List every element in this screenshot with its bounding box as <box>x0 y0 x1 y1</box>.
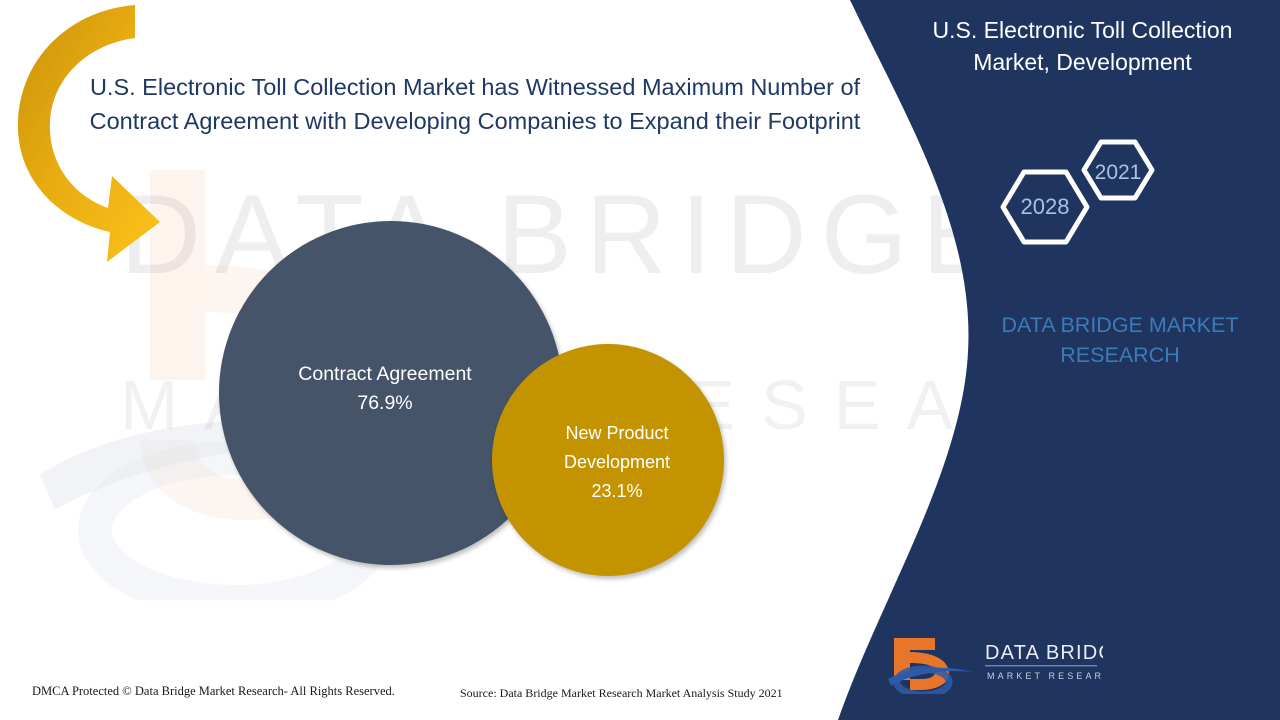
data-bridge-logo: DATA BRIDGE MARKET RESEARCH <box>888 632 1103 694</box>
hexagon-2028-label: 2028 <box>1021 194 1070 219</box>
logo-tagline-text: MARKET RESEARCH <box>987 671 1103 681</box>
slice-value-text: 76.9% <box>298 389 471 418</box>
copyright-notice: DMCA Protected © Data Bridge Market Rese… <box>32 684 395 699</box>
slice-label-text-2: Development <box>564 448 670 477</box>
brand-name-line2: RESEARCH <box>975 340 1265 370</box>
year-hexagons: 2028 2021 <box>980 130 1190 290</box>
infographic-slide: DATA BRIDGE MARKET RESEARCH U.S. Electro… <box>0 0 1280 720</box>
panel-title-line2: Market, Development <box>905 46 1260 78</box>
panel-title-line1: U.S. Electronic Toll Collection <box>905 14 1260 46</box>
logo-divider <box>985 665 1097 666</box>
brand-name-text: DATA BRIDGE MARKET RESEARCH <box>975 310 1265 370</box>
slice-value-text: 23.1% <box>564 477 670 506</box>
slice-label-text: Contract Agreement <box>298 360 471 389</box>
logo-name-text: DATA BRIDGE <box>985 642 1103 664</box>
panel-title: U.S. Electronic Toll Collection Market, … <box>905 14 1260 78</box>
brand-name-line1: DATA BRIDGE MARKET <box>975 310 1265 340</box>
logo-mark-icon <box>888 638 972 694</box>
slice-label-text: New Product <box>564 419 670 448</box>
slice-new-product-development: New Product Development 23.1% <box>492 344 724 576</box>
hexagon-2021-label: 2021 <box>1095 161 1142 184</box>
source-note: Source: Data Bridge Market Research Mark… <box>460 686 783 701</box>
page-title: U.S. Electronic Toll Collection Market h… <box>55 70 895 138</box>
slice-contract-agreement-label: Contract Agreement 76.9% <box>298 360 471 418</box>
slice-new-product-development-label: New Product Development 23.1% <box>564 419 670 506</box>
